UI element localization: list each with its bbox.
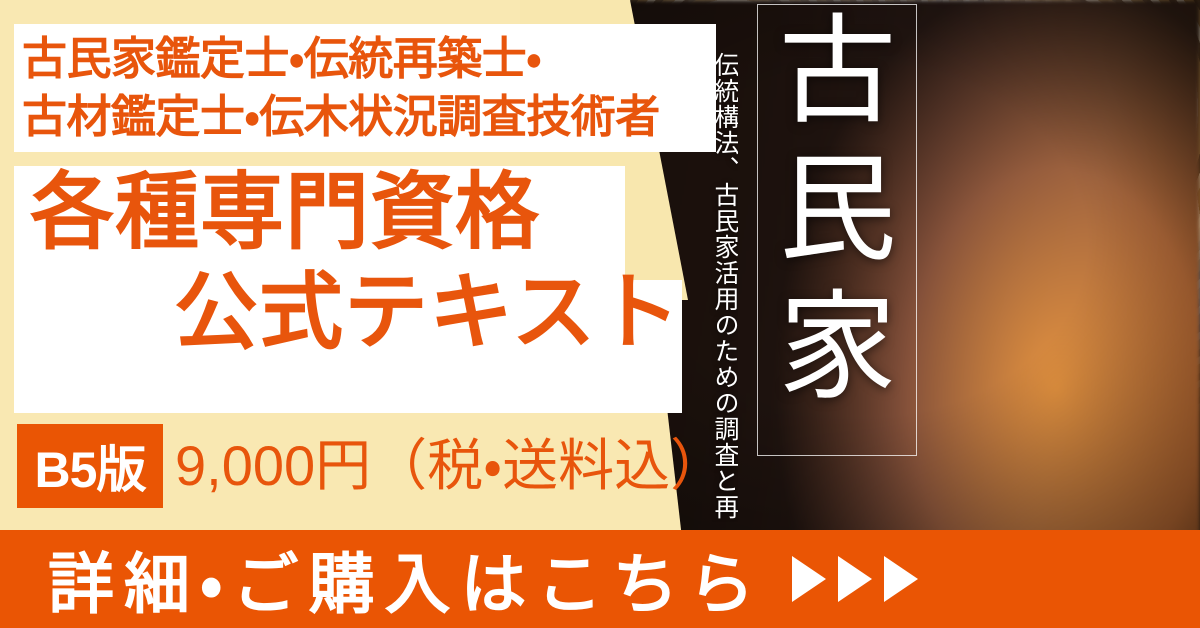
cta-bar[interactable]: 詳細・ご購入はこちら — [0, 530, 1200, 628]
qualifications-line-1: 古民家鑑定士・伝統再築士・ — [22, 30, 722, 88]
qualifications-line-2: 古材鑑定士・伝木状況調査技術者 — [22, 88, 722, 146]
cta-label: 詳細・ご購入はこちら — [48, 531, 764, 627]
promo-banner: 古 民 家 伝統構法、古民家活用のための調査と再生の 古民家鑑定士・伝統再築士・… — [0, 0, 1200, 628]
qualifications-text: 古民家鑑定士・伝統再築士・ 古材鑑定士・伝木状況調査技術者 — [22, 30, 722, 146]
main-title: 各種専門資格 公式テキスト — [14, 170, 686, 355]
triangle-right-icon — [884, 556, 918, 602]
main-title-line-1: 各種専門資格 — [14, 170, 686, 256]
main-title-line-2: 公式テキスト — [14, 270, 686, 356]
size-badge: B5版 — [17, 424, 163, 508]
book-cover-title: 古 民 家 — [765, 4, 910, 464]
cta-arrows — [792, 556, 918, 602]
triangle-right-icon — [792, 556, 826, 602]
price-text: 9,000円（税・送料込） — [175, 428, 726, 504]
triangle-right-icon — [838, 556, 872, 602]
